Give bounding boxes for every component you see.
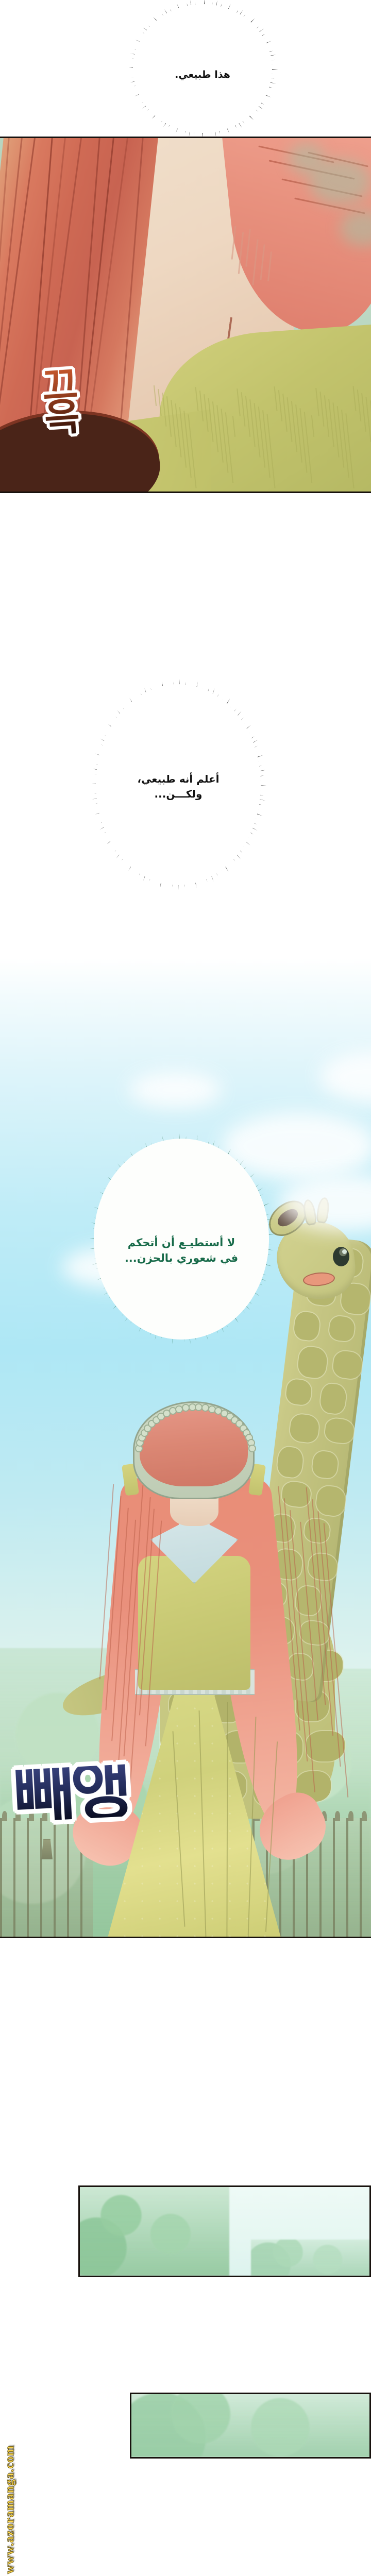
panel-foliage-strip-narrow [130, 2393, 371, 2459]
giraffe-patch [319, 1383, 348, 1415]
bubble3-text: لا أستطيـع أن أتحكم في شعوري بالحزن... [115, 1235, 247, 1266]
gate-finial [362, 1811, 367, 1821]
panel3-foliage [78, 2185, 229, 2276]
panel3-foliage-right [251, 2240, 371, 2276]
giraffe-patch [324, 1417, 355, 1444]
giraffe-patch [297, 1346, 329, 1379]
bubble3-body: لا أستطيـع أن أتحكم في شعوري بالحزن... [94, 1139, 269, 1340]
girl-back-view [101, 1401, 286, 1938]
shout-bubble-middle: أعلم أنه طبيعي، ولكـــن... [96, 684, 261, 885]
gate-finial [2, 1811, 7, 1821]
bubble2-text: أعلم أنه طبيعي، ولكـــن... [128, 772, 228, 802]
giraffe-patch [303, 1518, 331, 1544]
bubble1-text: هذا طبيعي. [165, 68, 240, 82]
gate-finial [348, 1811, 353, 1821]
giraffe-patch [315, 1485, 346, 1517]
site-watermark: www.azoramanga.com [3, 2445, 17, 2574]
sob-sfx-panel1: 끄 윽 [41, 369, 79, 435]
giraffe-patch [289, 1413, 320, 1444]
bonnet-frill [248, 1445, 256, 1452]
panel1-bg-foliage-blob [289, 143, 325, 174]
panel-close-up-crying-face: 끄 윽 [0, 137, 371, 493]
bubble2-body: أعلم أنه طبيعي، ولكـــن... [96, 684, 261, 885]
shout-bubble-sky: لا أستطيـع أن أتحكم في شعوري بالحزن... [94, 1139, 269, 1340]
wail-sfx-panel2: 빼앵 [12, 1764, 129, 1822]
webtoon-page: 끄 윽 هذا طبيعي. أعلم أنه طبيعي، ولكـــن..… [0, 0, 371, 2576]
panel2-cloud [129, 1072, 222, 1108]
giraffe-patch [311, 1450, 339, 1479]
panel4-foliage [130, 2393, 371, 2457]
giraffe-eye [333, 1247, 349, 1266]
giraffe-patch [299, 1620, 330, 1646]
panel-foliage-strip-wide [78, 2185, 371, 2277]
shout-bubble-top: هذا طبيعي. [133, 4, 272, 133]
giraffe-patch [293, 1311, 321, 1341]
giraffe-patch [285, 1378, 312, 1405]
bubble1-body: هذا طبيعي. [133, 4, 272, 133]
giraffe-patch [332, 1350, 363, 1380]
girl-bonnet [133, 1401, 255, 1499]
giraffe-patch [328, 1315, 356, 1342]
gate-finial [335, 1811, 340, 1821]
